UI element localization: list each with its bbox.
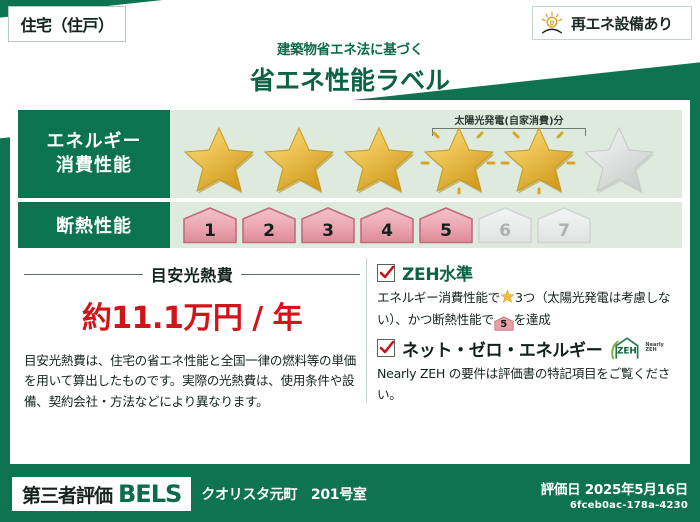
label-card: エネルギー 消費性能 太陽光発電(自家消費)分 断熱性能 1234567 — [10, 100, 690, 464]
utility-cost-column: 目安光熱費 約11.1万円 / 年 目安光熱費は、住宅の省エネ性能と全国一律の燃… — [18, 254, 366, 406]
insulation-level-filled: 1 — [182, 206, 238, 244]
utility-cost-heading: 目安光熱費 — [24, 262, 360, 286]
insulation-label: 断熱性能 — [56, 212, 132, 238]
insulation-level-value: 5 — [440, 221, 452, 241]
bels-mark: BELS — [118, 480, 181, 508]
bels-prefix: 第三者評価 — [22, 481, 112, 508]
energy-performance-row: エネルギー 消費性能 太陽光発電(自家消費)分 — [18, 110, 682, 198]
net-zero-energy-item: ネット・ゼロ・エネルギー ZEH Nearly ZEH — [377, 335, 680, 405]
insulation-level-value: 3 — [322, 221, 334, 241]
energy-performance-label: 住宅（住戸） D 再エネ設備あり 建築物省エネ法に基づく 省エネ性能ラベル — [0, 0, 700, 522]
star-filled — [420, 123, 498, 193]
svg-text:ZEH: ZEH — [617, 347, 637, 357]
renewable-energy-badge-label: 再エネ設備あり — [571, 13, 673, 34]
insulation-level-value: 6 — [499, 221, 511, 241]
star-filled — [340, 123, 418, 193]
insulation-levels-area: 1234567 — [170, 202, 682, 248]
insulation-level-value: 1 — [204, 221, 216, 241]
inline-star-icon — [500, 289, 515, 310]
evaluation-info: 評価日 2025年5月16日 6fceb0ac-178a-4230 — [541, 478, 688, 511]
energy-performance-stars-area: 太陽光発電(自家消費)分 — [170, 110, 682, 198]
zeh-logo: ZEH Nearly ZEH — [609, 335, 663, 361]
header-title: 省エネ性能ラベル — [0, 61, 700, 97]
zeh-standard-checkbox[interactable] — [377, 264, 395, 282]
net-zero-energy-checkbox[interactable] — [377, 339, 395, 357]
net-zero-energy-description: Nearly ZEH の要件は評価書の特記項目をご覧ください。 — [377, 364, 680, 405]
insulation-level-empty: 6 — [477, 206, 533, 244]
utility-cost-heading-text: 目安光熱費 — [151, 262, 234, 286]
utility-cost-value: 約11.1万円 / 年 — [24, 293, 360, 337]
net-zero-energy-title: ネット・ゼロ・エネルギー — [402, 336, 602, 361]
energy-label-line1: エネルギー — [47, 130, 142, 154]
zeh-standard-header: ZEH水準 — [377, 260, 680, 285]
evaluation-id: 6fceb0ac-178a-4230 — [541, 500, 688, 511]
zeh-desc-part3: を達成 — [514, 312, 551, 327]
net-zero-energy-header: ネット・ゼロ・エネルギー ZEH Nearly ZEH — [377, 335, 680, 361]
insulation-level-value: 7 — [558, 221, 570, 241]
property-name: クオリスタ元町 201号室 — [201, 484, 366, 504]
star-filled — [500, 123, 578, 193]
heading-rule-left — [24, 274, 143, 275]
svg-text:D: D — [550, 20, 555, 27]
insulation-level-filled: 5 — [418, 206, 474, 244]
insulation-level-filled: 3 — [300, 206, 356, 244]
insulation-level-filled: 4 — [359, 206, 415, 244]
star-filled — [180, 123, 258, 193]
inline-house-level-icon: 5 — [494, 316, 514, 331]
star-empty — [580, 123, 658, 193]
column-divider — [366, 258, 367, 402]
zeh-standard-item: ZEH水準 エネルギー消費性能で3つ（太陽光発電は考慮しない）、かつ断熱性能で5… — [377, 260, 680, 331]
zeh-logo-sub2: ZEH — [645, 348, 663, 353]
evaluation-date: 評価日 2025年5月16日 — [541, 478, 688, 498]
insulation-performance-row: 断熱性能 1234567 — [18, 202, 682, 248]
insulation-level-value: 2 — [263, 221, 275, 241]
zeh-standard-description: エネルギー消費性能で3つ（太陽光発電は考慮しない）、かつ断熱性能で5を達成 — [377, 288, 680, 331]
label-footer: 第三者評価 BELS クオリスタ元町 201号室 評価日 2025年5月16日 … — [0, 466, 700, 522]
insulation-performance-label-box: 断熱性能 — [18, 202, 170, 248]
utility-cost-note: 目安光熱費は、住宅の省エネ性能と全国一律の燃料等の単価を用いて算出したものです。… — [24, 351, 360, 412]
label-header: 建築物省エネ法に基づく 省エネ性能ラベル — [0, 38, 700, 97]
bels-badge: 第三者評価 BELS — [12, 477, 191, 511]
renewable-energy-badge: D 再エネ設備あり — [532, 6, 692, 40]
category-chip-label: 住宅（住戸） — [20, 12, 113, 36]
category-chip: 住宅（住戸） — [8, 6, 126, 42]
insulation-level-filled: 2 — [241, 206, 297, 244]
insulation-level-scale: 1234567 — [170, 206, 592, 244]
energy-label-line2: 消費性能 — [56, 154, 132, 178]
zeh-standard-title: ZEH水準 — [402, 260, 473, 285]
star-rating — [170, 123, 658, 193]
heading-rule-right — [241, 274, 360, 275]
star-filled — [260, 123, 338, 193]
solar-sun-icon: D — [539, 11, 565, 35]
inline-house-level-value: 5 — [500, 319, 507, 330]
zeh-column: ZEH水準 エネルギー消費性能で3つ（太陽光発電は考慮しない）、かつ断熱性能で5… — [375, 254, 682, 406]
insulation-level-empty: 7 — [536, 206, 592, 244]
insulation-level-value: 4 — [381, 221, 393, 241]
zeh-desc-part1: エネルギー消費性能で — [377, 290, 500, 305]
energy-performance-label-box: エネルギー 消費性能 — [18, 110, 170, 198]
label-lower-section: 目安光熱費 約11.1万円 / 年 目安光熱費は、住宅の省エネ性能と全国一律の燃… — [18, 254, 682, 406]
